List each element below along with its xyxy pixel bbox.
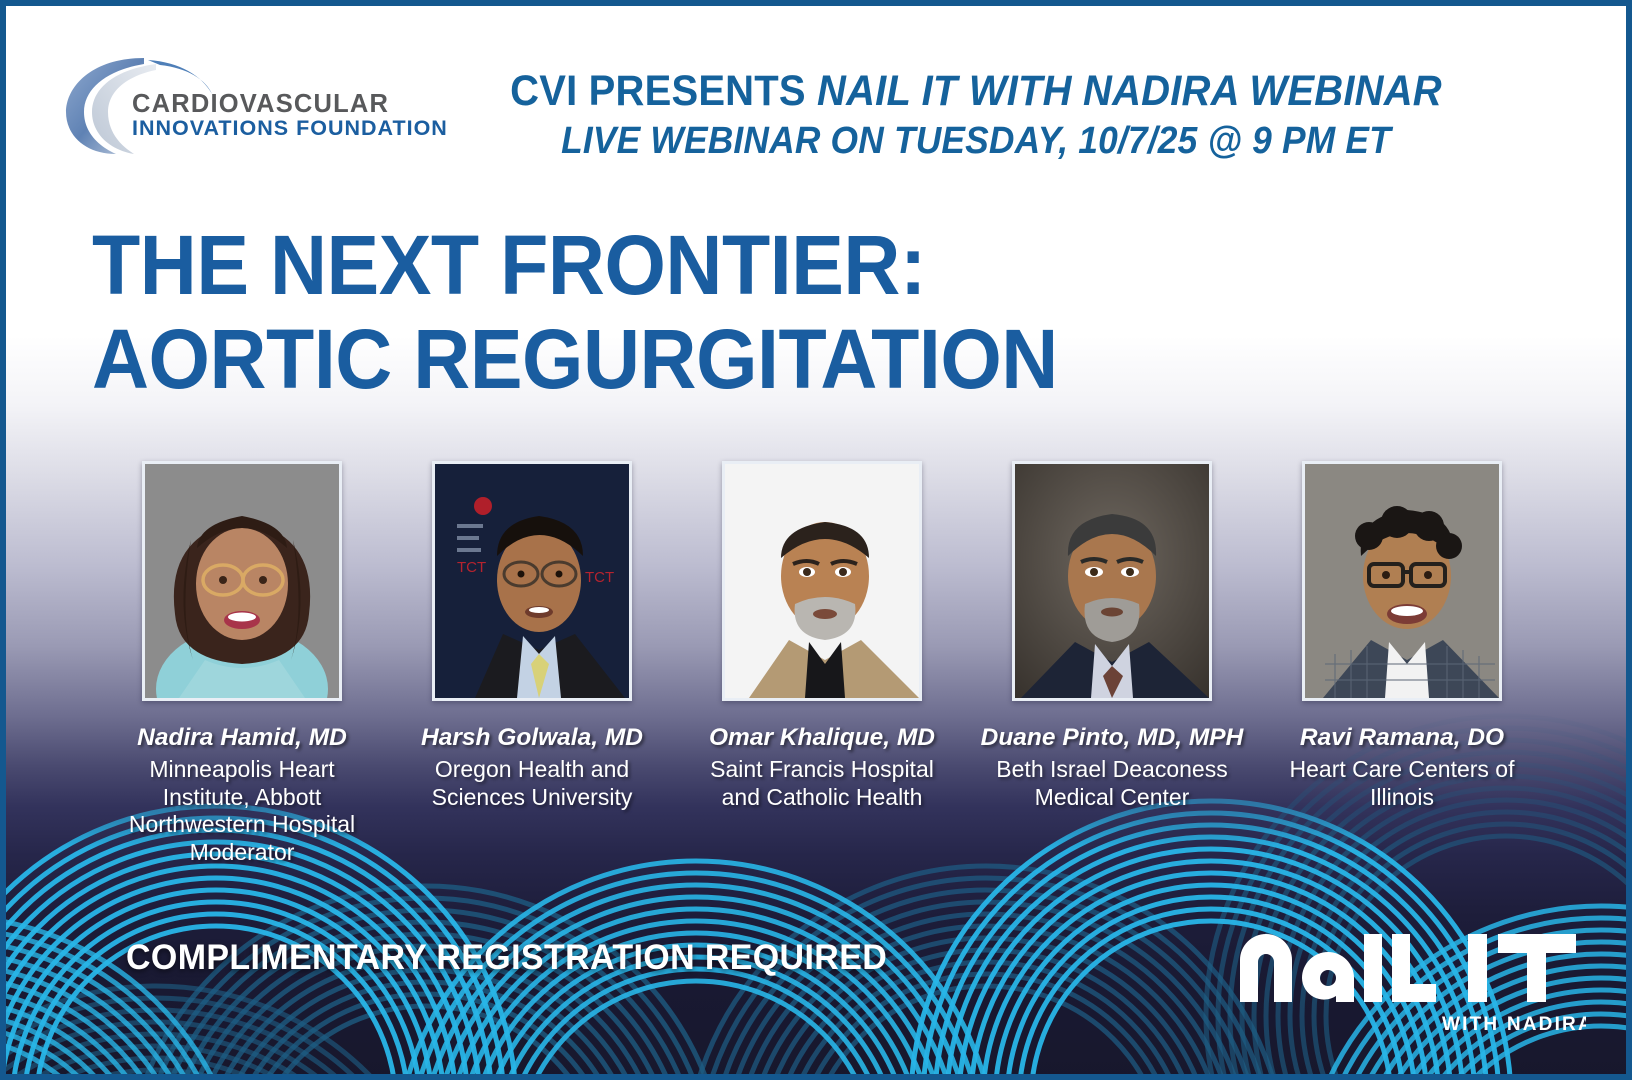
speaker-affiliation: Oregon Health and Sciences University	[407, 756, 657, 811]
header-line-2: LIVE WEBINAR ON TUESDAY, 10/7/25 @ 9 PM …	[483, 120, 1469, 164]
speaker-photo	[142, 461, 342, 701]
title-line-2: AORTIC REGURGITATION	[92, 318, 1220, 400]
header-series-name: NAIL IT WITH NADIRA WEBINAR	[817, 67, 1442, 115]
speaker-card: Ravi Ramana, DO Heart Care Centers of Il…	[1257, 461, 1547, 811]
header-line-1: CVI PRESENTS NAIL IT WITH NADIRA WEBINAR	[483, 68, 1469, 114]
speaker-affiliation: Beth Israel Deaconess Medical Center	[987, 756, 1237, 811]
svg-text:TCT: TCT	[457, 559, 486, 576]
speaker-photo: TCT TCT	[432, 461, 632, 701]
speaker-name: Harsh Golwala, MD	[400, 724, 665, 752]
speaker-name: Omar Khalique, MD	[690, 724, 955, 752]
speaker-card: Omar Khalique, MD Saint Francis Hospital…	[677, 461, 967, 811]
logo-line1: CARDIOVASCULAR	[132, 90, 389, 119]
headshot-harsh-golwala: TCT TCT	[435, 464, 629, 698]
webinar-poster: CARDIOVASCULAR INNOVATIONS FOUNDATION CV…	[0, 0, 1632, 1080]
headshot-duane-pinto	[1015, 464, 1209, 698]
title-line-1: THE NEXT FRONTIER:	[92, 224, 1220, 306]
speaker-affiliation: Heart Care Centers of Illinois	[1277, 756, 1527, 811]
headshot-omar-khalique	[725, 464, 919, 698]
page-title: THE NEXT FRONTIER: AORTIC REGURGITATION	[92, 224, 1292, 401]
speaker-photo	[722, 461, 922, 701]
headshot-ravi-ramana	[1305, 464, 1499, 698]
speaker-name: Ravi Ramana, DO	[1270, 724, 1535, 752]
header-prefix: CVI PRESENTS	[510, 67, 817, 115]
nail-it-sub-label: WITH NADIRA	[1442, 1014, 1586, 1035]
speaker-affiliation: Saint Francis Hospital and Catholic Heal…	[697, 756, 947, 811]
speaker-affiliation: Minneapolis Heart Institute, Abbott Nort…	[117, 756, 367, 866]
speaker-photo	[1302, 461, 1502, 701]
logo-line2: INNOVATIONS FOUNDATION	[132, 116, 448, 141]
speaker-card: Duane Pinto, MD, MPH Beth Israel Deacone…	[967, 461, 1257, 811]
registration-notice: COMPLIMENTARY REGISTRATION REQUIRED	[126, 938, 887, 978]
nail-it-logo: WITH NADIRA	[1236, 906, 1586, 1036]
speaker-list: Nadira Hamid, MD Minneapolis Heart Insti…	[6, 461, 1632, 866]
webinar-header: CVI PRESENTS NAIL IT WITH NADIRA WEBINAR…	[446, 68, 1506, 164]
nail-it-wordmark-icon: WITH NADIRA	[1236, 906, 1586, 1036]
speaker-name: Nadira Hamid, MD	[110, 724, 375, 752]
speaker-name: Duane Pinto, MD, MPH	[980, 724, 1245, 752]
speaker-card: Nadira Hamid, MD Minneapolis Heart Insti…	[97, 461, 387, 866]
headshot-nadira-hamid	[145, 464, 339, 698]
cvi-logo: CARDIOVASCULAR INNOVATIONS FOUNDATION	[60, 50, 360, 160]
speaker-photo	[1012, 461, 1212, 701]
speaker-card: TCT TCT Harsh	[387, 461, 677, 811]
svg-text:TCT: TCT	[585, 569, 614, 586]
